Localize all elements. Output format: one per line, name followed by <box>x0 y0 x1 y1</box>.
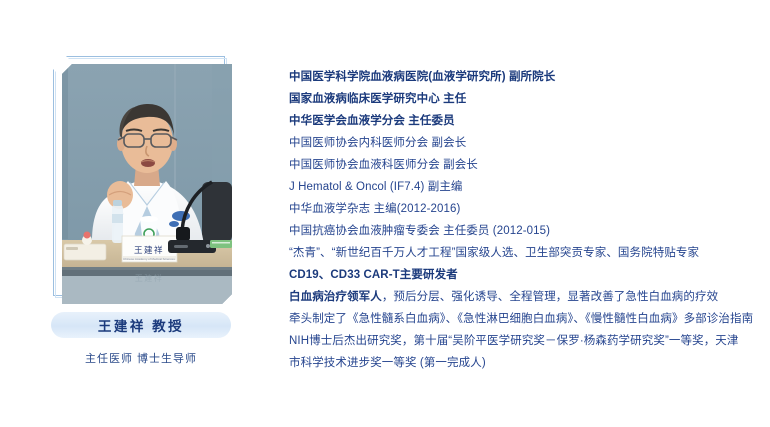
credential-line: 中国医师协会血液科医师分会 副会长 <box>289 154 759 176</box>
profile-name-badge: 王建祥 教授 <box>51 312 231 338</box>
credential-line-text: ，预后分层、强化诱导、全程管理，显著改善了急性白血病的疗效 <box>382 291 718 303</box>
svg-text:王建祥: 王建祥 <box>134 245 164 255</box>
profile-name: 王建祥 教授 <box>98 315 184 335</box>
profile-subtitle: 主任医师 博士生导师 <box>51 350 231 366</box>
credential-line: 牵头制定了《急性髓系白血病》、《急性淋巴细胞白血病》、《慢性髓性白血病》多部诊治… <box>289 308 759 330</box>
credential-line: 市科学技术进步奖一等奖 (第一完成人) <box>289 352 759 374</box>
profile-photo-illustration: 王建祥 Chinese Academy of Medical Sciences … <box>62 64 232 304</box>
credential-line-lead: 白血病治疗领军人 <box>289 291 382 303</box>
profile-panel: 王建祥 Chinese Academy of Medical Sciences … <box>45 50 245 380</box>
credential-line: NIH博士后杰出研究奖，第十届“吴阶平医学研究奖－保罗·杨森药学研究奖”一等奖，… <box>289 330 759 352</box>
slide-canvas: 王建祥 Chinese Academy of Medical Sciences … <box>0 0 770 427</box>
credential-line: CD19、CD33 CAR-T主要研发者 <box>289 264 759 286</box>
credential-line: 中国医师协会内科医师分会 副会长 <box>289 132 759 154</box>
credential-line: “杰青”、“新世纪百千万人才工程”国家级人选、卫生部突贡专家、国务院特贴专家 <box>289 242 759 264</box>
credential-line: 中华医学会血液学分会 主任委员 <box>289 110 759 132</box>
svg-text:王建祥: 王建祥 <box>135 273 164 283</box>
credential-line: 中华血液学杂志 主编(2012-2016) <box>289 198 759 220</box>
credentials-list: 中国医学科学院血液病医院(血液学研究所) 副所院长国家血液病临床医学研究中心 主… <box>289 66 759 374</box>
credential-line: 白血病治疗领军人，预后分层、强化诱导、全程管理，显著改善了急性白血病的疗效 <box>289 286 759 308</box>
credential-line: 中国抗癌协会血液肿瘤专委会 主任委员 (2012-015) <box>289 220 759 242</box>
credential-line: J Hematol & Oncol (IF7.4) 副主编 <box>289 176 759 198</box>
credential-line: 中国医学科学院血液病医院(血液学研究所) 副所院长 <box>289 66 759 88</box>
profile-photo: 王建祥 Chinese Academy of Medical Sciences … <box>62 64 232 304</box>
credential-line: 国家血液病临床医学研究中心 主任 <box>289 88 759 110</box>
svg-text:Chinese Academy of Medical Sci: Chinese Academy of Medical Sciences <box>123 257 175 261</box>
